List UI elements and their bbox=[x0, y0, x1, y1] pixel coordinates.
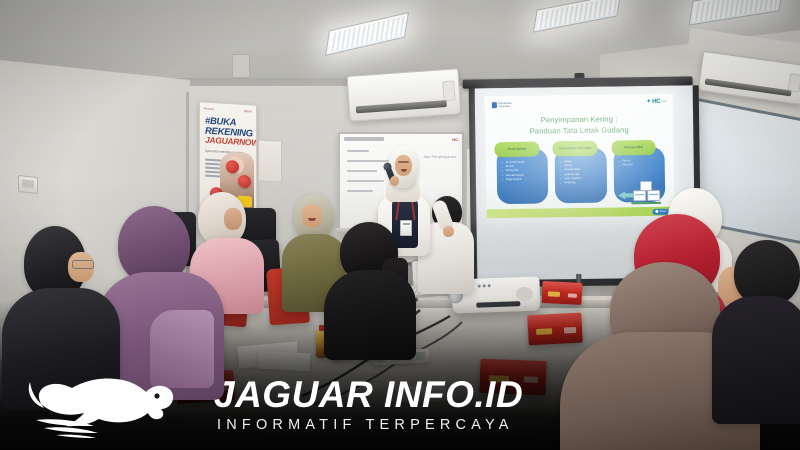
arrow-tail bbox=[624, 193, 633, 197]
pill-dot-icon bbox=[656, 210, 659, 213]
box-icon bbox=[633, 190, 646, 201]
slide-column-list: First In First Out bbox=[619, 159, 660, 168]
shelf-base bbox=[631, 201, 661, 204]
watermark-bar: JAGUAR INFO.ID INFORMATIF TERPERCAYA bbox=[0, 358, 800, 450]
slide-column-heading-text: Prinsip FIFO bbox=[624, 146, 643, 150]
ac-vent bbox=[355, 100, 447, 113]
photo-scene: Promo Bank #BUKA REKENING JAGUARNOW Syar… bbox=[0, 0, 800, 450]
corner-logo-text: HC bbox=[652, 99, 660, 105]
watermark-brand: JAGUAR INFO.ID bbox=[214, 376, 523, 413]
watermark-tagline: INFORMATIF TERPERCAYA bbox=[214, 418, 523, 433]
slide-column: Prinsip FIFO First In First Out bbox=[611, 140, 665, 203]
slide-column-list: Gelap Kering Ventilasi Baik jendelan dar… bbox=[561, 160, 603, 186]
list-item: langsung bbox=[561, 181, 602, 186]
slide-column-heading-text: Persyaratan Ruangan bbox=[559, 147, 592, 151]
presenter-hand-right bbox=[443, 226, 454, 237]
list-item: tinggi tempat bbox=[503, 177, 544, 182]
wall-poster-secondary bbox=[258, 139, 282, 182]
ac-panel bbox=[442, 80, 455, 101]
slide-column-heading: Persyaratan Ruangan bbox=[553, 141, 598, 157]
whiteboard-logo: HC bbox=[452, 137, 458, 142]
presenter-brow bbox=[398, 161, 409, 163]
org-logo-mark-icon bbox=[492, 102, 497, 108]
switch-rocker bbox=[22, 179, 34, 188]
whiteboard-header-strip bbox=[344, 137, 384, 141]
box-label bbox=[536, 328, 553, 335]
poster-badge-icon bbox=[226, 160, 239, 174]
slide-columns: Jenis Bahan Di produk tanah Es dan kerin… bbox=[494, 140, 665, 204]
poster-top-labels: Promo Bank bbox=[204, 107, 252, 117]
attendee-face bbox=[302, 204, 322, 228]
list-item: First Out bbox=[619, 163, 660, 168]
slide-column-list: Di produk tanah Es dan kering dan Alat d… bbox=[503, 160, 545, 182]
poster-badge-icon bbox=[238, 175, 251, 189]
box-label bbox=[547, 291, 559, 296]
attendee-body bbox=[324, 270, 416, 360]
watermark-text: JAGUAR INFO.ID INFORMATIF TERPERCAYA bbox=[214, 376, 523, 433]
presenter-face bbox=[395, 155, 412, 176]
star-icon: ✦ bbox=[646, 99, 651, 105]
eyeglasses-icon bbox=[72, 260, 94, 269]
slide-column: Jenis Bahan Di produk tanah Es dan kerin… bbox=[494, 141, 548, 204]
poster-headline: #BUKA REKENING JAGUARNOW bbox=[205, 117, 251, 148]
attendee-face bbox=[224, 208, 242, 230]
attendee-long-dark-hair bbox=[324, 222, 416, 354]
ac-unit-left bbox=[347, 68, 462, 122]
slide-column: Persyaratan Ruangan Gelap Kering Ventila… bbox=[553, 141, 607, 204]
org-logo-line2: Indonesia bbox=[498, 105, 509, 108]
poster-bank-label: Bank bbox=[244, 109, 252, 116]
slide-title-line2: Panduan Tata Letak Gudang bbox=[485, 125, 673, 138]
poster-promo-label: Promo bbox=[204, 107, 214, 115]
projector-buttons[interactable] bbox=[478, 284, 491, 287]
wall-light-switch[interactable] bbox=[18, 175, 38, 194]
box-icon bbox=[647, 190, 660, 201]
poster-headline-line3: JAGUARNOW bbox=[205, 136, 251, 147]
slide-column-heading-text: Jenis Bahan bbox=[507, 147, 526, 151]
org-logo-text: Pemerintah Indonesia bbox=[498, 102, 511, 109]
wall-mounted-box bbox=[232, 54, 250, 78]
jaguar-leaping-icon bbox=[24, 368, 196, 440]
corner-logo-sub: Group bbox=[661, 101, 667, 103]
slide-org-logo: Pemerintah Indonesia bbox=[492, 102, 512, 109]
slide-corner-logo: ✦ HC Group bbox=[646, 99, 667, 105]
slide-title: Penyimpanan Kering : Panduan Tata Letak … bbox=[485, 114, 673, 138]
slide-column-heading: Prinsip FIFO bbox=[611, 140, 656, 156]
presentation-slide: Pemerintah Indonesia ✦ HC Group Penyimpa… bbox=[485, 94, 675, 219]
presenter-hand-left bbox=[390, 176, 399, 186]
slide-column-heading: Jenis Bahan bbox=[494, 142, 539, 158]
